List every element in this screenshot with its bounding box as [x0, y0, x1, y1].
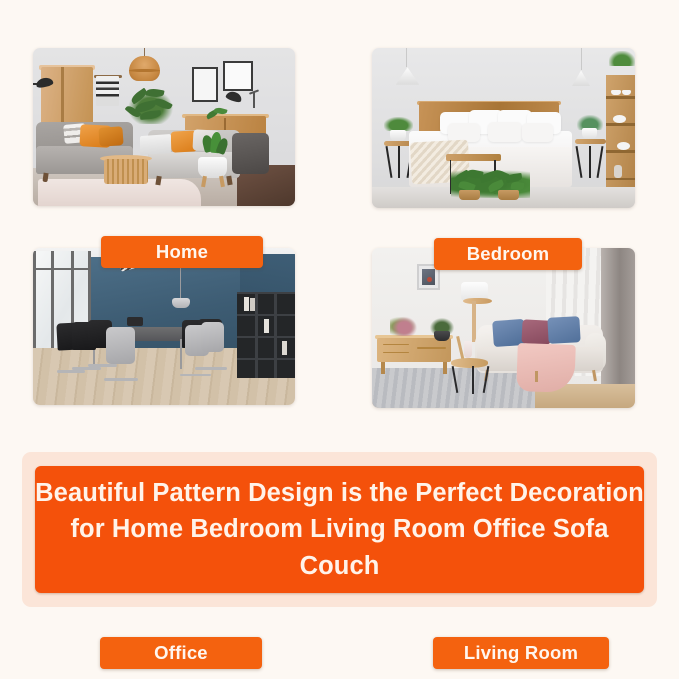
badge-text: Office — [154, 642, 208, 664]
gallery-card-home[interactable]: Home — [33, 48, 295, 206]
badge-text: Home — [156, 241, 208, 263]
gallery-card-label-living-room[interactable]: Living Room — [433, 637, 609, 669]
gallery-card-office[interactable]: Office — [33, 248, 295, 405]
badge-text: Living Room — [464, 642, 578, 664]
promo-banner-line-2: for Home Bedroom Living Room Office Sofa… — [35, 511, 644, 583]
promo-banner-inner: Beautiful Pattern Design is the Perfect … — [35, 466, 644, 593]
gallery-card-living-room[interactable]: Living Room — [372, 248, 635, 408]
promo-banner: Beautiful Pattern Design is the Perfect … — [22, 452, 657, 607]
living-room-photo — [372, 248, 635, 408]
gallery-card-label-office[interactable]: Office — [100, 637, 262, 669]
gallery-card-label-bedroom[interactable]: Bedroom — [434, 238, 582, 270]
gallery-card-bedroom[interactable]: Bedroom — [372, 48, 635, 208]
gallery-card-label-home[interactable]: Home — [101, 236, 263, 268]
home-photo — [33, 48, 295, 206]
promo-banner-line-1: Beautiful Pattern Design is the Perfect … — [35, 475, 644, 511]
product-feature-graphic: Home — [0, 0, 679, 679]
badge-text: Bedroom — [467, 243, 550, 265]
office-photo — [33, 248, 295, 405]
bedroom-photo — [372, 48, 635, 208]
